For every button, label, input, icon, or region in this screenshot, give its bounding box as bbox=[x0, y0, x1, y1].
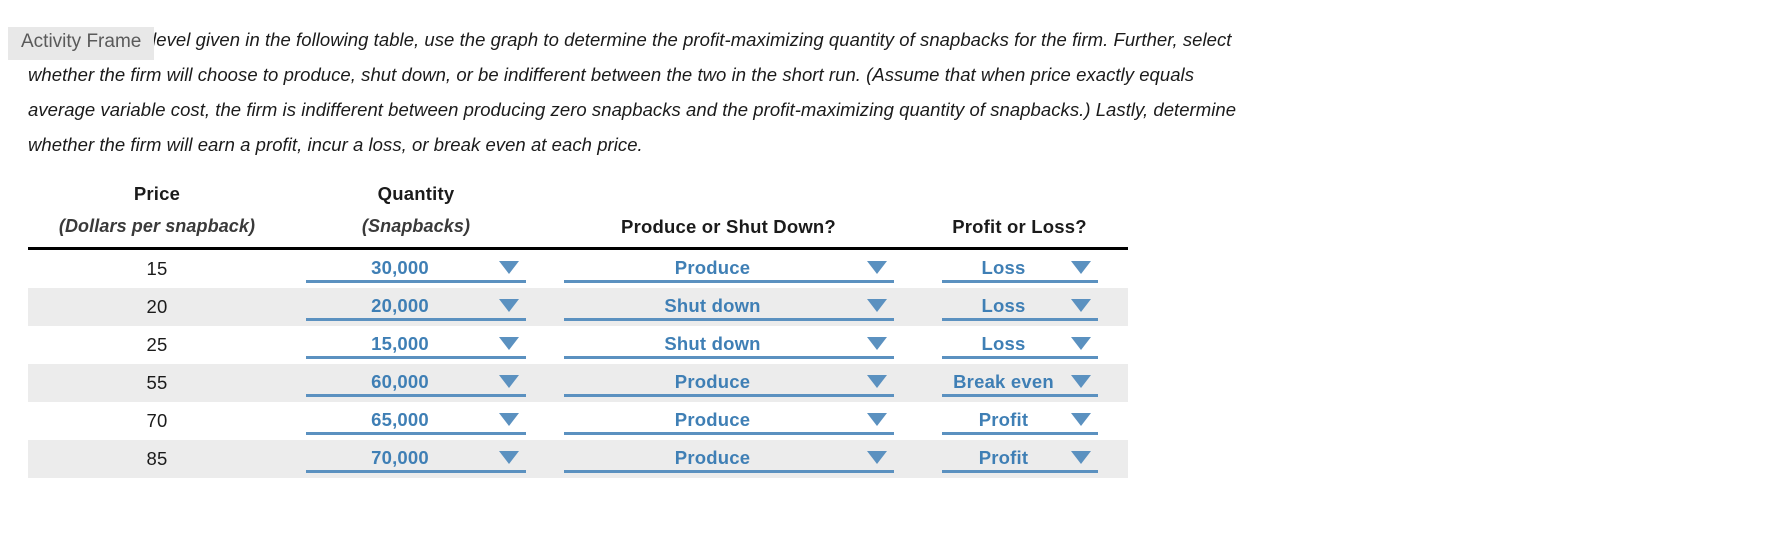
answer-table-container: Price (Dollars per snapback) Quantity (S… bbox=[28, 178, 1128, 478]
produce-dropdown-value: Produce bbox=[564, 446, 864, 470]
produce-dropdown-value: Produce bbox=[564, 408, 864, 432]
chevron-down-icon bbox=[496, 375, 522, 388]
chevron-down-icon bbox=[864, 299, 890, 312]
profit-cell: Profit bbox=[911, 402, 1128, 440]
chevron-down-icon bbox=[864, 451, 890, 464]
profit-dropdown[interactable]: Loss bbox=[942, 255, 1098, 283]
activity-frame-tooltip: Activity Frame bbox=[8, 27, 154, 60]
profit-cell: Break even bbox=[911, 364, 1128, 402]
prompt-line-2: whether the firm will choose to produce,… bbox=[28, 57, 1402, 92]
chevron-down-icon bbox=[496, 299, 522, 312]
quantity-cell: 15,000 bbox=[286, 326, 546, 364]
column-header-quantity-main: Quantity bbox=[286, 178, 546, 210]
column-header-quantity: Quantity (Snapbacks) bbox=[286, 178, 546, 249]
chevron-down-icon bbox=[864, 413, 890, 426]
quantity-dropdown-value: 20,000 bbox=[306, 294, 496, 318]
chevron-down-icon bbox=[496, 451, 522, 464]
quantity-cell: 20,000 bbox=[286, 288, 546, 326]
price-value: 25 bbox=[28, 326, 286, 364]
profit-dropdown-value: Loss bbox=[942, 332, 1068, 356]
column-header-profit-spacer bbox=[911, 179, 1128, 211]
chevron-down-icon bbox=[1068, 451, 1094, 464]
chevron-down-icon bbox=[1068, 337, 1094, 350]
profit-dropdown[interactable]: Profit bbox=[942, 445, 1098, 473]
price-value: 70 bbox=[28, 402, 286, 440]
table-row: 25 15,000 Shut down bbox=[28, 326, 1128, 364]
quantity-dropdown[interactable]: 70,000 bbox=[306, 445, 526, 473]
profit-cell: Loss bbox=[911, 249, 1128, 289]
profit-cell: Loss bbox=[911, 326, 1128, 364]
profit-dropdown-value: Loss bbox=[942, 294, 1068, 318]
table-row: 20 20,000 Shut down bbox=[28, 288, 1128, 326]
quantity-dropdown-value: 70,000 bbox=[306, 446, 496, 470]
produce-dropdown[interactable]: Produce bbox=[564, 445, 894, 473]
profit-dropdown[interactable]: Loss bbox=[942, 293, 1098, 321]
chevron-down-icon bbox=[1068, 375, 1094, 388]
produce-dropdown-value: Produce bbox=[564, 256, 864, 280]
quantity-dropdown[interactable]: 15,000 bbox=[306, 331, 526, 359]
column-header-quantity-sub: (Snapbacks) bbox=[286, 210, 546, 243]
chevron-down-icon bbox=[864, 337, 890, 350]
prompt-line-3: average variable cost, the firm is indif… bbox=[28, 92, 1402, 127]
produce-cell: Produce bbox=[546, 440, 911, 478]
table-row: 55 60,000 Produce bbox=[28, 364, 1128, 402]
prompt-line-4: whether the firm will earn a profit, inc… bbox=[28, 127, 1402, 162]
produce-cell: Shut down bbox=[546, 288, 911, 326]
profit-dropdown-value: Profit bbox=[942, 446, 1068, 470]
produce-dropdown[interactable]: Produce bbox=[564, 407, 894, 435]
answer-table-body: 15 30,000 Produce bbox=[28, 249, 1128, 479]
produce-dropdown[interactable]: Shut down bbox=[564, 293, 894, 321]
column-header-produce-spacer bbox=[546, 179, 911, 211]
profit-dropdown[interactable]: Break even bbox=[942, 369, 1098, 397]
produce-dropdown[interactable]: Produce bbox=[564, 369, 894, 397]
chevron-down-icon bbox=[1068, 413, 1094, 426]
profit-dropdown[interactable]: Profit bbox=[942, 407, 1098, 435]
quantity-dropdown[interactable]: 20,000 bbox=[306, 293, 526, 321]
answer-table: Price (Dollars per snapback) Quantity (S… bbox=[28, 178, 1128, 478]
quantity-cell: 65,000 bbox=[286, 402, 546, 440]
column-header-price-sub: (Dollars per snapback) bbox=[28, 210, 286, 243]
price-value: 15 bbox=[28, 249, 286, 289]
produce-dropdown[interactable]: Produce bbox=[564, 255, 894, 283]
chevron-down-icon bbox=[496, 337, 522, 350]
price-value: 55 bbox=[28, 364, 286, 402]
table-row: 85 70,000 Produce bbox=[28, 440, 1128, 478]
profit-dropdown-value: Break even bbox=[942, 370, 1068, 394]
produce-cell: Produce bbox=[546, 402, 911, 440]
chevron-down-icon bbox=[1068, 299, 1094, 312]
quantity-dropdown[interactable]: 60,000 bbox=[306, 369, 526, 397]
quantity-cell: 60,000 bbox=[286, 364, 546, 402]
table-row: 70 65,000 Produce bbox=[28, 402, 1128, 440]
column-header-profit-or-loss: Profit or Loss? bbox=[911, 178, 1128, 249]
quantity-dropdown[interactable]: 30,000 bbox=[306, 255, 526, 283]
quantity-dropdown-value: 60,000 bbox=[306, 370, 496, 394]
quantity-dropdown-value: 15,000 bbox=[306, 332, 496, 356]
column-header-produce-or-shut-down: Produce or Shut Down? bbox=[546, 178, 911, 249]
chevron-down-icon bbox=[1068, 261, 1094, 274]
column-header-profit-or-loss-label: Profit or Loss? bbox=[911, 211, 1128, 243]
activity-prompt: For each price level given in the follow… bbox=[28, 22, 1402, 162]
profit-cell: Profit bbox=[911, 440, 1128, 478]
profit-dropdown-value: Profit bbox=[942, 408, 1068, 432]
quantity-dropdown-value: 65,000 bbox=[306, 408, 496, 432]
price-value: 20 bbox=[28, 288, 286, 326]
produce-cell: Produce bbox=[546, 364, 911, 402]
quantity-dropdown-value: 30,000 bbox=[306, 256, 496, 280]
column-header-produce-or-shut-down-label: Produce or Shut Down? bbox=[546, 211, 911, 243]
produce-cell: Shut down bbox=[546, 326, 911, 364]
chevron-down-icon bbox=[496, 413, 522, 426]
produce-dropdown-value: Shut down bbox=[564, 332, 864, 356]
chevron-down-icon bbox=[864, 375, 890, 388]
chevron-down-icon bbox=[496, 261, 522, 274]
profit-dropdown-value: Loss bbox=[942, 256, 1068, 280]
produce-cell: Produce bbox=[546, 249, 911, 289]
quantity-dropdown[interactable]: 65,000 bbox=[306, 407, 526, 435]
table-row: 15 30,000 Produce bbox=[28, 249, 1128, 289]
chevron-down-icon bbox=[864, 261, 890, 274]
produce-dropdown-value: Shut down bbox=[564, 294, 864, 318]
column-header-price: Price (Dollars per snapback) bbox=[28, 178, 286, 249]
produce-dropdown[interactable]: Shut down bbox=[564, 331, 894, 359]
profit-dropdown[interactable]: Loss bbox=[942, 331, 1098, 359]
price-value: 85 bbox=[28, 440, 286, 478]
produce-dropdown-value: Produce bbox=[564, 370, 864, 394]
quantity-cell: 30,000 bbox=[286, 249, 546, 289]
prompt-line-1: For each price level given in the follow… bbox=[28, 22, 1402, 57]
profit-cell: Loss bbox=[911, 288, 1128, 326]
column-header-price-main: Price bbox=[28, 178, 286, 210]
quantity-cell: 70,000 bbox=[286, 440, 546, 478]
